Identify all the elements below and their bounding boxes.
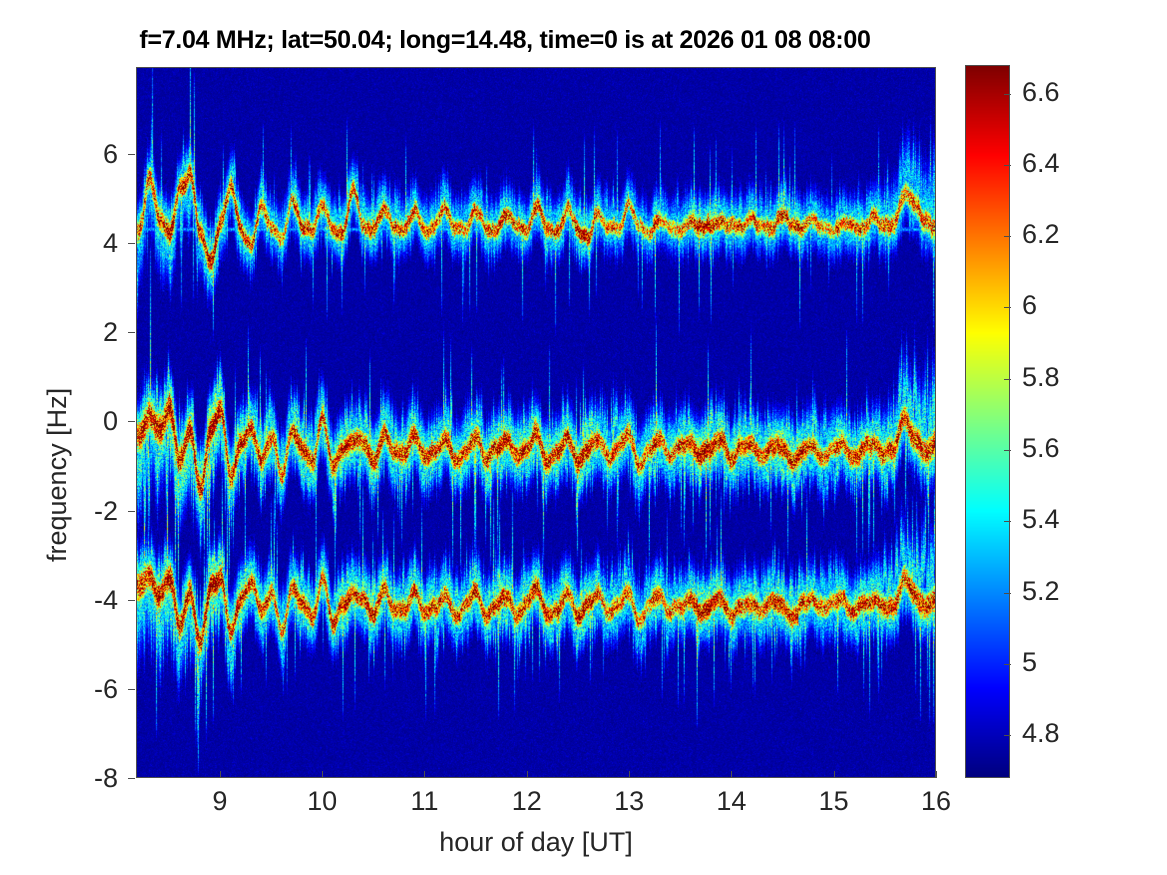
colorbar-tick-label: 5.2 <box>1022 578 1132 605</box>
colorbar <box>965 65 1010 778</box>
colorbar-tick-mark <box>1004 379 1011 380</box>
colorbar-tick-mark <box>1004 521 1011 522</box>
x-tick-mark <box>220 771 221 778</box>
y-tick-mark <box>128 689 135 690</box>
x-tick-mark <box>629 771 630 778</box>
colorbar-tick-label: 6.2 <box>1022 221 1132 248</box>
x-tick-mark <box>322 771 323 778</box>
x-tick-label: 11 <box>384 786 464 816</box>
y-tick-mark <box>128 511 135 512</box>
y-tick-mark <box>128 154 135 155</box>
colorbar-tick-label: 6 <box>1022 292 1132 319</box>
x-tick-label: 10 <box>282 786 362 816</box>
colorbar-tick-label: 5.6 <box>1022 435 1132 462</box>
y-tick-label: 4 <box>0 228 118 258</box>
x-tick-label: 13 <box>589 786 669 816</box>
colorbar-tick-mark <box>1004 593 1011 594</box>
x-tick-label: 16 <box>896 786 976 816</box>
y-tick-mark <box>128 332 135 333</box>
spectrogram-axes <box>136 67 936 778</box>
x-tick-mark <box>936 771 937 778</box>
y-tick-mark <box>128 778 135 779</box>
colorbar-tick-mark <box>1004 664 1011 665</box>
y-tick-label: -6 <box>0 674 118 704</box>
colorbar-tick-mark <box>1004 450 1011 451</box>
y-tick-mark <box>128 243 135 244</box>
colorbar-tick-mark <box>1004 165 1011 166</box>
y-tick-label: 2 <box>0 317 118 347</box>
colorbar-tick-mark <box>1004 94 1011 95</box>
colorbar-tick-label: 6.6 <box>1022 79 1132 106</box>
figure-container: f=7.04 MHz; lat=50.04; long=14.48, time=… <box>0 0 1167 875</box>
colorbar-tick-mark <box>1004 307 1011 308</box>
x-tick-label: 9 <box>180 786 260 816</box>
y-tick-mark <box>128 600 135 601</box>
x-tick-label: 14 <box>691 786 771 816</box>
chart-title: f=7.04 MHz; lat=50.04; long=14.48, time=… <box>0 26 1010 55</box>
x-tick-mark <box>424 771 425 778</box>
x-tick-label: 12 <box>487 786 567 816</box>
y-tick-label: 0 <box>0 406 118 436</box>
x-tick-mark <box>731 771 732 778</box>
colorbar-tick-mark <box>1004 735 1011 736</box>
x-tick-mark <box>527 771 528 778</box>
y-tick-label: -8 <box>0 763 118 793</box>
colorbar-tick-label: 6.4 <box>1022 150 1132 177</box>
y-tick-label: -2 <box>0 496 118 526</box>
spectrogram-image <box>137 68 935 777</box>
colorbar-tick-mark <box>1004 236 1011 237</box>
colorbar-tick-label: 5.4 <box>1022 506 1132 533</box>
x-tick-label: 15 <box>794 786 874 816</box>
x-axis-label: hour of day [UT] <box>136 827 936 858</box>
x-tick-mark <box>834 771 835 778</box>
colorbar-gradient <box>966 66 1009 777</box>
colorbar-tick-label: 5.8 <box>1022 364 1132 391</box>
y-tick-label: -4 <box>0 585 118 615</box>
colorbar-tick-label: 4.8 <box>1022 720 1132 747</box>
y-tick-mark <box>128 421 135 422</box>
y-tick-label: 6 <box>0 139 118 169</box>
colorbar-tick-label: 5 <box>1022 649 1132 676</box>
